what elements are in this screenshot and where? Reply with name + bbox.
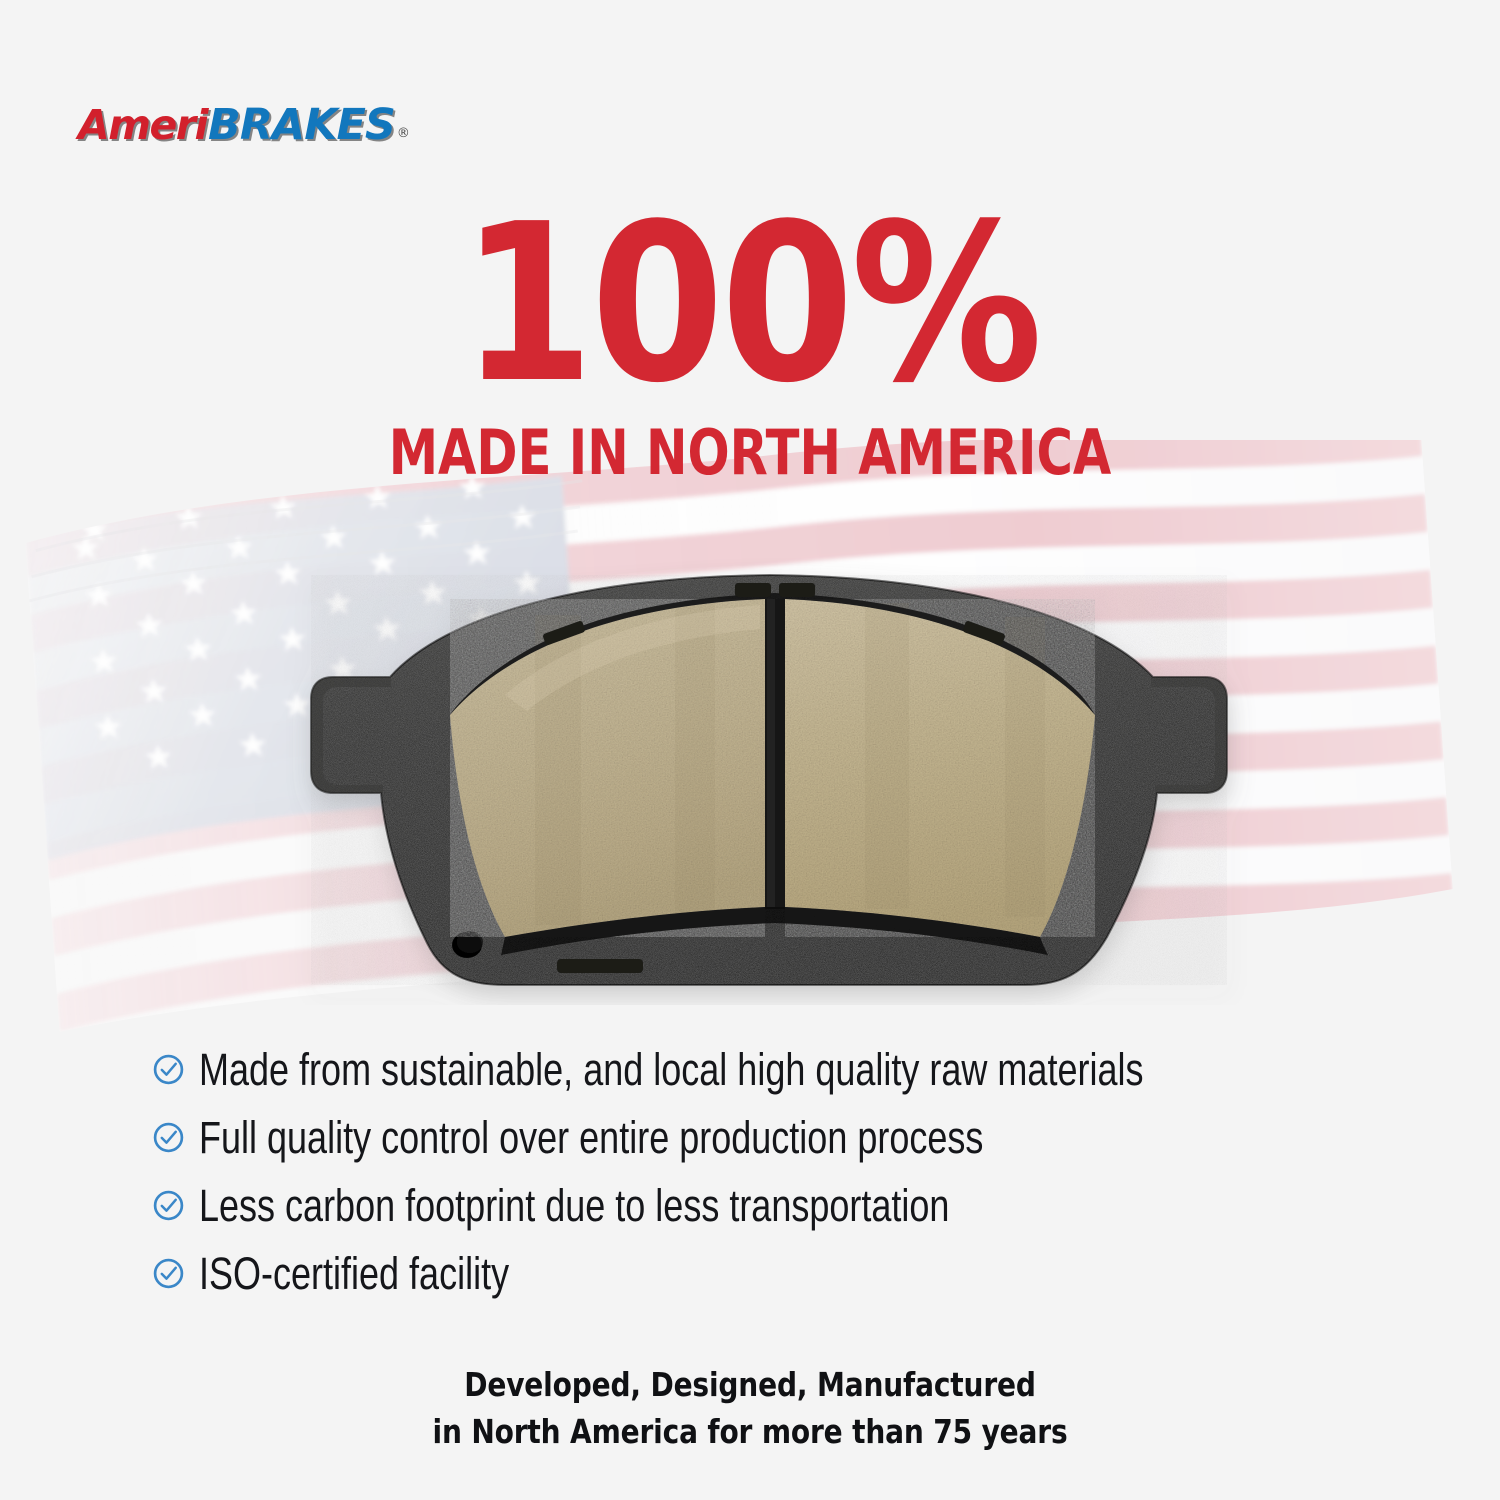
list-item: Full quality control over entire product…	[152, 1103, 1402, 1171]
headline-block: 100% MADE IN NORTH AMERICA	[0, 205, 1500, 489]
headline-subtitle: MADE IN NORTH AMERICA	[150, 416, 1350, 489]
feature-label: Made from sustainable, and local high qu…	[199, 1047, 1143, 1092]
logo-text-brakes: BRAKES	[208, 100, 395, 150]
check-circle-icon	[152, 1121, 185, 1154]
footer-block: Developed, Designed, Manufactured in Nor…	[0, 1362, 1500, 1456]
footer-line-1: Developed, Designed, Manufactured	[113, 1362, 1388, 1409]
brake-pad-illustration	[205, 555, 1335, 1005]
top-tab-right	[779, 583, 815, 597]
product-marketing-image: Ameri BRAKES ® 100% MADE IN NORTH AMERIC…	[0, 0, 1500, 1500]
registered-trademark-icon: ®	[397, 126, 410, 141]
check-circle-icon	[152, 1189, 185, 1222]
brake-pad-product-image	[205, 555, 1335, 1005]
check-circle-icon	[152, 1257, 185, 1290]
bottom-tab	[557, 959, 643, 973]
footer-line-2: in North America for more than 75 years	[113, 1409, 1388, 1456]
feature-list: Made from sustainable, and local high qu…	[152, 1035, 1402, 1307]
list-item: Made from sustainable, and local high qu…	[152, 1035, 1402, 1103]
logo-text-ameri: Ameri	[78, 101, 207, 149]
top-tab-left	[735, 583, 771, 597]
headline-percent: 100%	[90, 205, 1410, 406]
ameribrakes-logo: Ameri BRAKES ®	[78, 100, 409, 150]
list-item: Less carbon footprint due to less transp…	[152, 1171, 1402, 1239]
feature-label: ISO-certified facility	[199, 1251, 509, 1296]
feature-label: Less carbon footprint due to less transp…	[199, 1183, 949, 1228]
check-circle-icon	[152, 1053, 185, 1086]
list-item: ISO-certified facility	[152, 1239, 1402, 1307]
feature-label: Full quality control over entire product…	[199, 1115, 983, 1160]
